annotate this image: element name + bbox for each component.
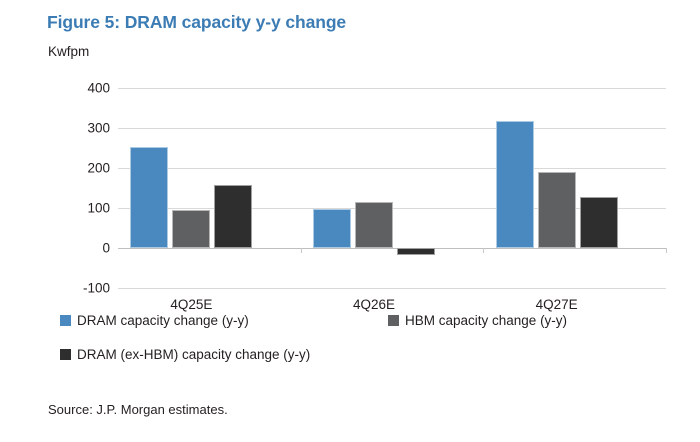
- legend-label: DRAM (ex-HBM) capacity change (y-y): [77, 347, 310, 362]
- y-axis-tick-label: 0: [40, 241, 110, 256]
- gridline: [118, 88, 666, 89]
- gridline: [118, 248, 666, 249]
- source-note: Source: J.P. Morgan estimates.: [48, 402, 228, 417]
- figure-container: Figure 5: DRAM capacity y-y change Kwfpm…: [0, 0, 700, 442]
- gridline: [118, 168, 666, 169]
- y-axis-tick-label: 100: [40, 201, 110, 216]
- x-axis-category-label: 4Q26E: [353, 297, 395, 312]
- legend-item-hbm-capacity-change[interactable]: HBM capacity change (y-y): [388, 313, 567, 328]
- legend-row-2: DRAM (ex-HBM) capacity change (y-y): [60, 347, 680, 371]
- bar: [214, 185, 252, 248]
- y-axis-tick-label: 300: [40, 121, 110, 136]
- legend-label: DRAM capacity change (y-y): [77, 313, 249, 328]
- y-axis-tick-label: 200: [40, 161, 110, 176]
- legend-item-dram-capacity-change[interactable]: DRAM capacity change (y-y): [60, 313, 249, 328]
- legend-label: HBM capacity change (y-y): [405, 313, 567, 328]
- chart-plot: 4003002001000-100 4Q25E4Q26E4Q27E: [0, 0, 700, 442]
- y-axis-tick-label: 400: [40, 81, 110, 96]
- legend-swatch-icon: [60, 349, 71, 360]
- plot-area: [118, 88, 666, 288]
- bar: [496, 121, 534, 248]
- legend-swatch-icon: [60, 315, 71, 326]
- bar: [172, 210, 210, 248]
- x-axis-tick-mark: [301, 248, 302, 253]
- bar: [130, 147, 168, 248]
- bar: [580, 197, 618, 248]
- bar: [538, 172, 576, 248]
- legend-row-1: DRAM capacity change (y-y) HBM capacity …: [60, 313, 680, 337]
- legend-item-dram-ex-hbm-capacity-change[interactable]: DRAM (ex-HBM) capacity change (y-y): [60, 347, 310, 362]
- x-axis-tick-mark: [483, 248, 484, 253]
- legend-swatch-icon: [388, 315, 399, 326]
- gridline: [118, 128, 666, 129]
- y-axis-tick-label: -100: [40, 281, 110, 296]
- bar: [313, 209, 351, 248]
- x-axis-tick-mark: [666, 248, 667, 253]
- x-axis-category-label: 4Q25E: [170, 297, 212, 312]
- gridline: [118, 288, 666, 289]
- x-axis-category-label: 4Q27E: [536, 297, 578, 312]
- bar: [355, 202, 393, 248]
- chart-legend: DRAM capacity change (y-y) HBM capacity …: [60, 313, 680, 371]
- bar: [397, 248, 435, 255]
